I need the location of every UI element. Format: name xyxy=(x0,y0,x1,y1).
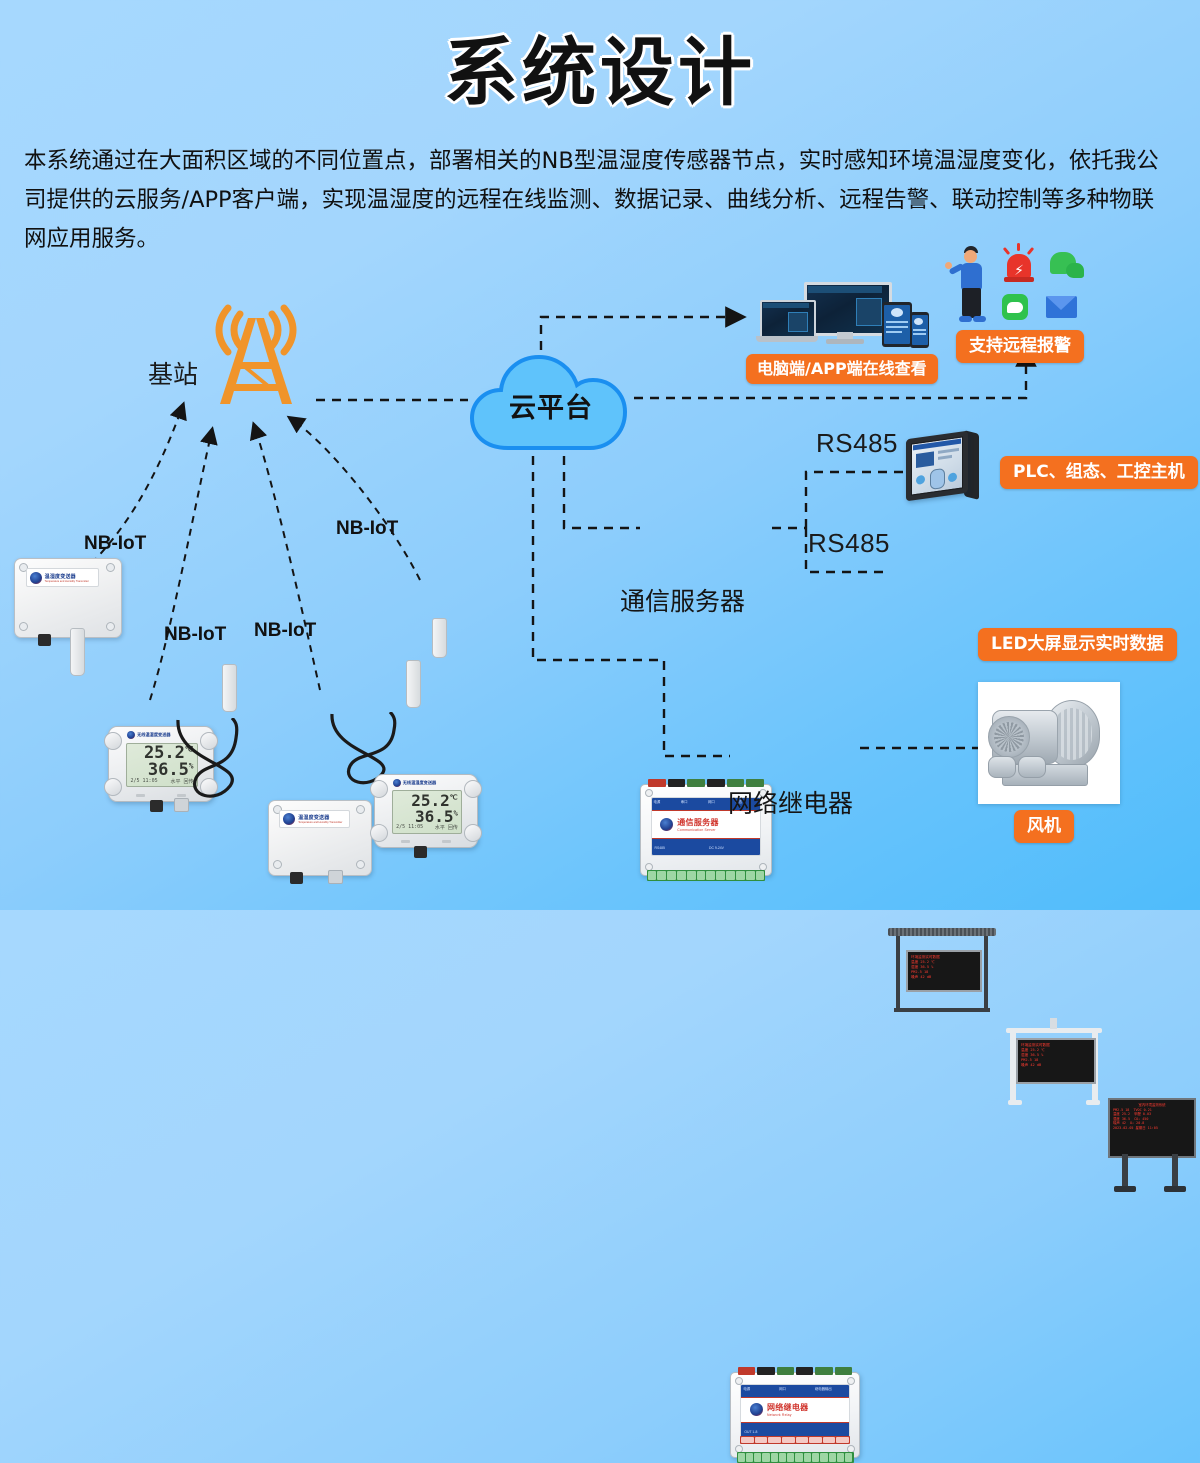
brand-logo-icon xyxy=(283,813,295,825)
network-relay: 电源 网口 继电器输出 网络继电器 Network Relay OUT 1-8 xyxy=(730,1372,860,1458)
siren-icon: ⚡ xyxy=(1002,250,1036,284)
alarm-badge: 支持远程报警 xyxy=(956,330,1084,363)
page-title: 系统设计 xyxy=(0,36,1200,110)
sensor-brand-name: 温湿度变送器 xyxy=(298,814,342,821)
sensor-probe-2 xyxy=(222,664,237,712)
fan-badge: 风机 xyxy=(1014,810,1074,843)
sensor-enclosure-mid: 温湿度变送器 Temperature and Humidity Transmit… xyxy=(268,800,370,874)
led-board-gantry: 环境监测实时数据 温度 25.2 ℃ 湿度 36.5 % PM2.5 18 噪声… xyxy=(1006,1016,1102,1106)
fan-photo xyxy=(978,682,1120,804)
plc-hmi-panel xyxy=(906,432,992,502)
temperature-unit: ℃ xyxy=(450,793,458,802)
base-station-label: 基站 xyxy=(148,355,198,391)
sensor-enclosure-left: 温湿度变送器 Temperature and Humidity Transmit… xyxy=(14,558,120,636)
nbiot-label-4: NB-IoT xyxy=(336,518,398,540)
sensor-cable-2 xyxy=(150,718,260,808)
sensor-lcd-screen: 25.2℃ 36.5% 2/5 11:05 水平 回传 xyxy=(392,790,463,833)
email-icon xyxy=(1046,296,1077,318)
brand-logo-icon xyxy=(30,572,42,584)
relay-name: 网络继电器 xyxy=(728,784,853,820)
sms-icon xyxy=(1002,294,1028,320)
rs485-label-top: RS485 xyxy=(816,428,898,459)
rs485-label-bottom: RS485 xyxy=(808,528,890,559)
lcd-footer-right: 水平 回传 xyxy=(435,824,458,831)
intro-paragraph: 本系统通过在大面积区域的不同位置点，部署相关的NB型温湿度传感器节点，实时感知环… xyxy=(24,142,1176,259)
humidity-value: 36.5 xyxy=(415,807,454,826)
led-board-table: 室内环境监测系统 PM2.5 18 TVOC 0.21 温度 25.2 甲醛 0… xyxy=(1113,1103,1191,1153)
base-station-label-text: 基站 xyxy=(148,360,198,389)
lcd-footer-left: 2/5 11:05 xyxy=(396,824,423,831)
wechat-icon xyxy=(1050,252,1090,282)
comm-server-name: 通信服务器 xyxy=(620,582,745,618)
nbiot-label-2: NB-IoT xyxy=(164,624,226,646)
led-board-text: 环境监测实时数据 温度 25.2 ℃ 湿度 36.5 % PM2.5 18 噪声… xyxy=(911,955,977,987)
tablet-icon xyxy=(882,302,912,347)
sensor-probe-3 xyxy=(406,660,421,708)
sensor-brand-name: 温湿度变送器 xyxy=(45,573,89,580)
person-icon xyxy=(952,246,992,326)
diagram-canvas: 系统设计 本系统通过在大面积区域的不同位置点，部署相关的NB型温湿度传感器节点，… xyxy=(0,0,1200,910)
client-device-cluster xyxy=(756,282,932,350)
nbiot-label-3: NB-IoT xyxy=(254,620,316,642)
led-board-kiosk: 环境监测实时数据 温度 25.2 ℃ 湿度 36.5 % PM2.5 18 噪声… xyxy=(888,928,996,1014)
nbiot-label-1: NB-IoT xyxy=(84,533,146,555)
brand-logo-icon xyxy=(393,779,401,787)
sensor-lcd-upper: 无线温湿度变送器 25.2℃ 36.5% 2/5 11:05 水平 回传 xyxy=(374,774,478,848)
remote-alarm-group: ⚡ xyxy=(946,246,1106,328)
phone-icon xyxy=(910,312,929,348)
sensor-brand-sub: Temperature and Humidity Transmitter xyxy=(45,580,89,583)
led-board-pole: 室内环境监测系统 PM2.5 18 TVOC 0.21 温度 25.2 甲醛 0… xyxy=(1108,1098,1192,1194)
cell-tower-icon xyxy=(196,300,316,410)
clients-badge: 电脑端/APP端在线查看 xyxy=(746,354,938,384)
sensor-brand-plate: 温湿度变送器 Temperature and Humidity Transmit… xyxy=(26,568,100,587)
laptop-icon xyxy=(756,300,818,348)
sensor-brand-name: 无线温湿度变送器 xyxy=(403,780,437,786)
sensor-brand-sub: Temperature and Humidity Transmitter xyxy=(298,821,342,824)
led-board-text: 环境监测实时数据 温度 25.2 ℃ 湿度 36.5 % PM2.5 18 噪声… xyxy=(1021,1043,1091,1079)
humidity-unit: % xyxy=(454,808,458,817)
brand-logo-icon xyxy=(127,731,135,739)
sensor-probe-4 xyxy=(432,618,447,658)
cloud-platform-label: 云平台 xyxy=(468,386,634,425)
cloud-platform[interactable]: 云平台 xyxy=(468,348,634,456)
plc-badge: PLC、组态、工控主机 xyxy=(1000,456,1198,489)
led-badge: LED大屏显示实时数据 xyxy=(978,628,1177,661)
